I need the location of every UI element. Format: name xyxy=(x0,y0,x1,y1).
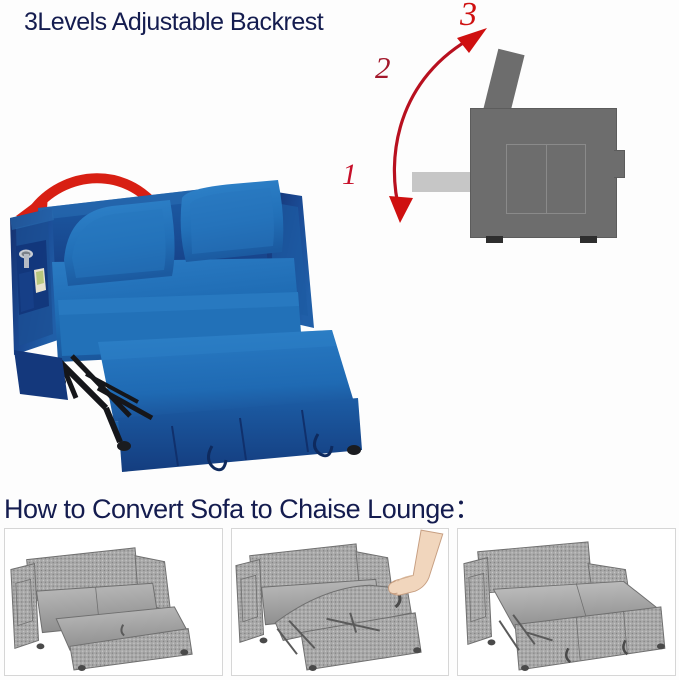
diagram-sofa-foot-left xyxy=(486,236,503,243)
convert-step-3-panel xyxy=(457,528,676,676)
convert-step-1-image xyxy=(5,529,222,675)
diagram-sofa-seat-divider xyxy=(546,145,547,213)
main-sofa-bed-photo xyxy=(2,150,370,480)
page-title: 3Levels Adjustable Backrest xyxy=(24,8,323,37)
section-title-convert: How to Convert Sofa to Chaise Lounge： xyxy=(4,487,481,526)
diagram-label-3: 3 xyxy=(460,0,477,34)
infographic-stage: 3Levels Adjustable Backrest 1 2 3 xyxy=(0,0,679,680)
convert-step-2-image xyxy=(232,529,449,675)
diagram-sofa-seat-panels xyxy=(506,144,586,214)
convert-steps-gallery xyxy=(4,528,676,676)
back-pillow-right xyxy=(181,180,284,262)
caster-wheel xyxy=(117,441,131,451)
diagram-label-2: 2 xyxy=(375,50,391,86)
side-pocket-organizer xyxy=(16,240,49,315)
backrest-diagram: 1 2 3 xyxy=(390,0,679,290)
convert-step-2-panel xyxy=(231,528,450,676)
caster-wheel xyxy=(347,445,361,455)
convert-step-3-image xyxy=(458,529,675,675)
convert-step-1-panel xyxy=(4,528,223,676)
diagram-sofa-body xyxy=(470,108,617,238)
diagram-sofa-foot-right xyxy=(580,236,597,243)
diagram-sofa-side-tab xyxy=(614,150,625,178)
